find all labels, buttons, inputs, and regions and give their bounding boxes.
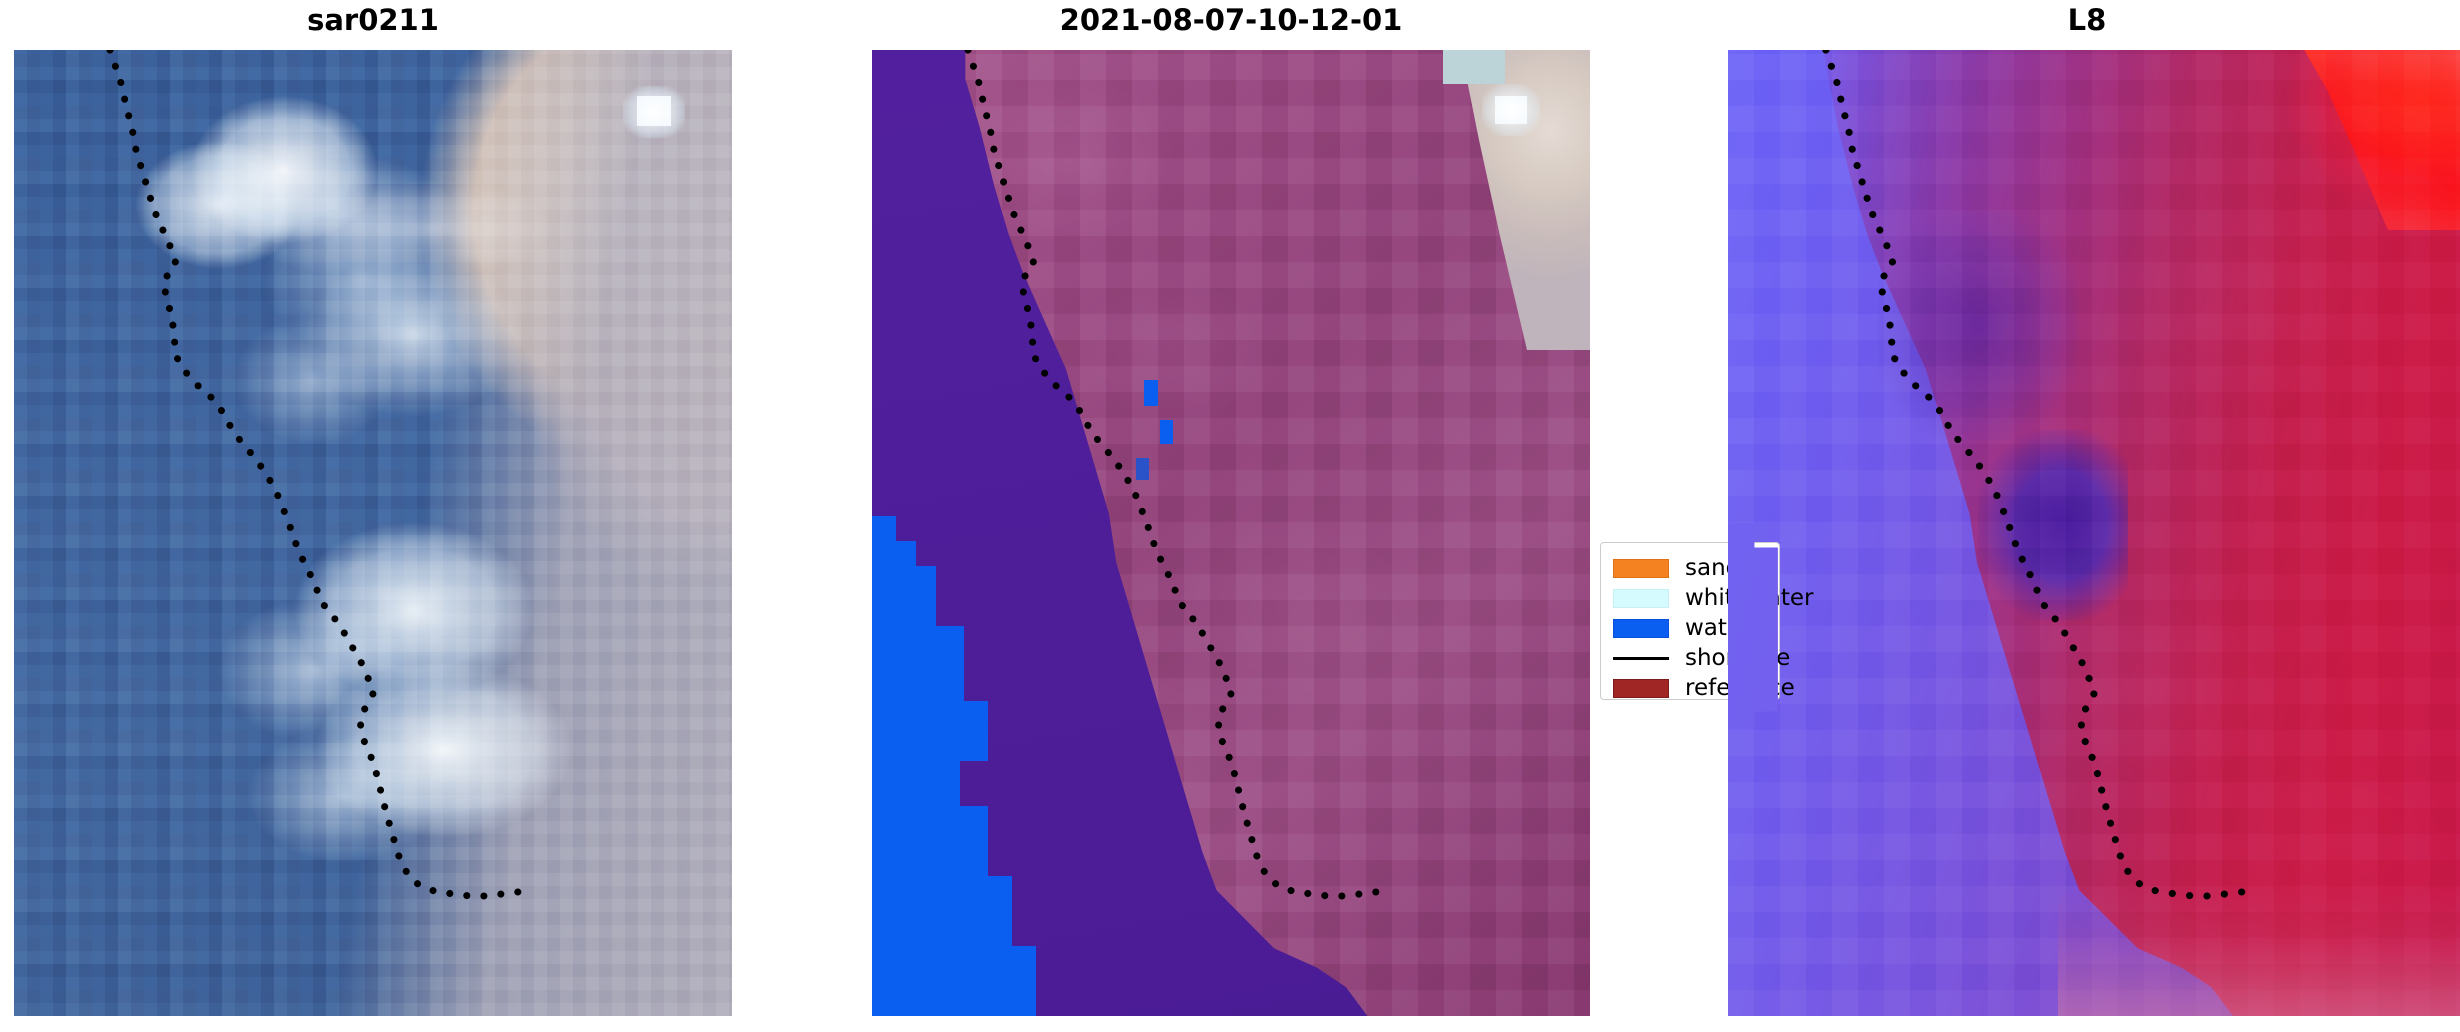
legend-item-shoreline: shoreline	[1613, 643, 1769, 673]
panel-title-l8: L8	[1728, 0, 2446, 40]
panel-classified: 2021-08-07-10-12-01	[872, 0, 1590, 1032]
legend-swatch-whitewater	[1613, 589, 1669, 608]
shoreline-overlay-classified	[872, 50, 1590, 1016]
legend-swatch-water	[1613, 619, 1669, 638]
legend-label-whitewater: whitewater	[1685, 587, 1813, 610]
panel-sar0211: sar0211	[14, 0, 732, 1032]
panel-l8: L8	[1728, 0, 2460, 1032]
l8-false-colour-image	[1728, 50, 2460, 1016]
legend-label-reference: reference	[1685, 677, 1795, 700]
legend-label-shoreline: shoreline	[1685, 647, 1790, 670]
legend-swatch-sand	[1613, 559, 1669, 578]
satellite-image-sar0211	[14, 50, 732, 1016]
legend-item-water: water	[1613, 613, 1769, 643]
legend: sand whitewater water shoreline referenc…	[1600, 542, 1780, 700]
legend-item-sand: sand	[1613, 553, 1769, 583]
legend-label-sand: sand	[1685, 557, 1740, 580]
legend-line-shoreline	[1613, 649, 1669, 668]
figure-canvas: sar0211 2021-08-07-10-12-01	[0, 0, 2460, 1032]
legend-item-reference: reference	[1613, 673, 1769, 703]
panel-title-sar0211: sar0211	[14, 0, 732, 40]
shoreline-overlay-l8	[1728, 50, 2460, 1016]
legend-label-water: water	[1685, 617, 1751, 640]
shoreline-line-icon	[1613, 657, 1669, 660]
shoreline-overlay	[14, 50, 732, 1016]
panel-title-classified: 2021-08-07-10-12-01	[872, 0, 1590, 40]
legend-swatch-reference	[1613, 679, 1669, 698]
legend-item-whitewater: whitewater	[1613, 583, 1769, 613]
classified-image	[872, 50, 1590, 1016]
